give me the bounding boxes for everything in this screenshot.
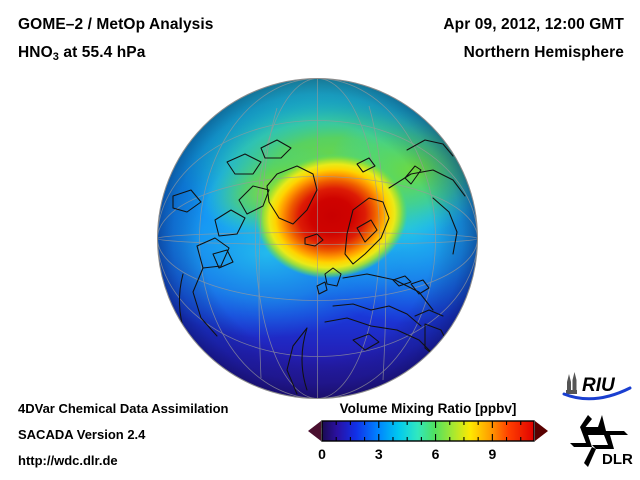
version-label: SACADA Version 2.4 [18,427,145,442]
colorbar-tick-label: 6 [432,446,440,462]
cathedral-spires-icon [566,372,577,394]
colorbar-tick-labels: 0369 [308,446,548,468]
dlr-logo: DLR [566,414,634,468]
globe-field [157,78,478,399]
colorbar [308,419,548,443]
page-title: GOME–2 / MetOp Analysis [18,16,214,34]
website-link[interactable]: http://wdc.dlr.de [18,453,118,468]
timestamp-label: Apr 09, 2012, 12:00 GMT [443,16,624,34]
dlr-logo-svg: DLR [566,414,634,468]
figure-canvas: GOME–2 / MetOp Analysis HNO3 at 55.4 hPa… [0,0,640,480]
species-pressure-suffix: at 55.4 hPa [59,44,146,61]
colorbar-tick-label: 0 [318,446,326,462]
colorbar-svg [308,419,548,443]
colorbar-low-cap [308,421,321,441]
colorbar-tick-label: 3 [375,446,383,462]
globe-map [157,78,478,399]
riu-logo-svg: RIU [560,370,632,404]
colorbar-tick-label: 9 [488,446,496,462]
species-pressure-label: HNO3 at 55.4 hPa [18,44,145,63]
species-formula-prefix: HNO [18,44,53,61]
riu-logo: RIU [560,370,632,404]
colorbar-title: Volume Mixing Ratio [ppbv] [320,401,536,416]
globe-svg [157,78,478,399]
dlr-wordmark: DLR [602,451,633,468]
colorbar-ramp [322,421,534,441]
method-label: 4DVar Chemical Data Assimilation [18,401,229,416]
colorbar-high-cap [535,421,548,441]
hemisphere-label: Northern Hemisphere [464,44,624,62]
riu-wordmark: RIU [582,375,616,396]
